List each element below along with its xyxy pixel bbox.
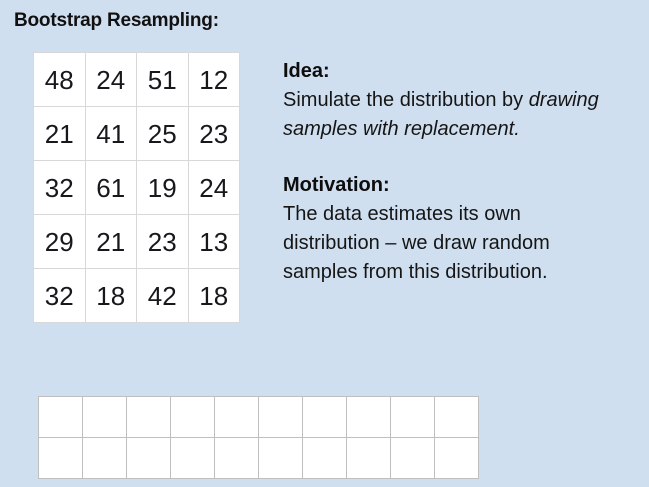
idea-block: Idea: Simulate the distribution by drawi…: [283, 57, 613, 144]
table-row: 48 24 51 12: [34, 53, 240, 107]
data-cell: 21: [34, 107, 86, 161]
original-sample-table: 48 24 51 12 21 41 25 23 32 61 19 24 29 2…: [33, 52, 240, 323]
resample-cell[interactable]: [259, 397, 303, 438]
resample-grid: [38, 396, 479, 479]
data-cell: 48: [34, 53, 86, 107]
resample-cell[interactable]: [171, 397, 215, 438]
table-row: 32 18 42 18: [34, 269, 240, 323]
data-cell: 42: [137, 269, 189, 323]
motivation-heading: Motivation:: [283, 171, 613, 200]
resample-cell[interactable]: [127, 438, 171, 479]
resample-cell[interactable]: [303, 438, 347, 479]
data-cell: 12: [188, 53, 240, 107]
resample-cell[interactable]: [347, 397, 391, 438]
table-row: 29 21 23 13: [34, 215, 240, 269]
data-cell: 23: [188, 107, 240, 161]
data-cell: 25: [137, 107, 189, 161]
resample-cell[interactable]: [347, 438, 391, 479]
data-cell: 13: [188, 215, 240, 269]
motivation-body: The data estimates its own distribution …: [283, 200, 613, 287]
resample-grid-body: [39, 397, 479, 479]
resample-cell[interactable]: [39, 397, 83, 438]
page-title: Bootstrap Resampling:: [14, 10, 219, 32]
resample-cell[interactable]: [435, 438, 479, 479]
data-cell: 18: [85, 269, 137, 323]
data-cell: 41: [85, 107, 137, 161]
data-cell: 32: [34, 269, 86, 323]
resample-cell[interactable]: [259, 438, 303, 479]
table-row: 21 41 25 23: [34, 107, 240, 161]
resample-cell[interactable]: [215, 397, 259, 438]
table-row: [39, 438, 479, 479]
resample-cell[interactable]: [83, 397, 127, 438]
idea-heading: Idea:: [283, 57, 613, 86]
explanation-column: Idea: Simulate the distribution by drawi…: [283, 57, 613, 287]
table-row: [39, 397, 479, 438]
resample-cell[interactable]: [303, 397, 347, 438]
data-cell: 29: [34, 215, 86, 269]
slide-canvas: Bootstrap Resampling: 48 24 51 12 21 41 …: [0, 0, 649, 487]
data-cell: 23: [137, 215, 189, 269]
data-cell: 32: [34, 161, 86, 215]
resample-cell[interactable]: [215, 438, 259, 479]
resample-cell[interactable]: [391, 438, 435, 479]
data-cell: 24: [85, 53, 137, 107]
resample-cell[interactable]: [127, 397, 171, 438]
data-cell: 19: [137, 161, 189, 215]
resample-cell[interactable]: [171, 438, 215, 479]
table-row: 32 61 19 24: [34, 161, 240, 215]
data-cell: 18: [188, 269, 240, 323]
data-cell: 21: [85, 215, 137, 269]
resample-cell[interactable]: [83, 438, 127, 479]
data-cell: 24: [188, 161, 240, 215]
data-cell: 61: [85, 161, 137, 215]
idea-body-plain: Simulate the distribution by: [283, 89, 529, 111]
resample-cell[interactable]: [39, 438, 83, 479]
resample-cell[interactable]: [435, 397, 479, 438]
data-table-body: 48 24 51 12 21 41 25 23 32 61 19 24 29 2…: [34, 53, 240, 323]
idea-body: Simulate the distribution by drawing sam…: [283, 86, 613, 144]
motivation-block: Motivation: The data estimates its own d…: [283, 171, 613, 287]
data-cell: 51: [137, 53, 189, 107]
resample-cell[interactable]: [391, 397, 435, 438]
